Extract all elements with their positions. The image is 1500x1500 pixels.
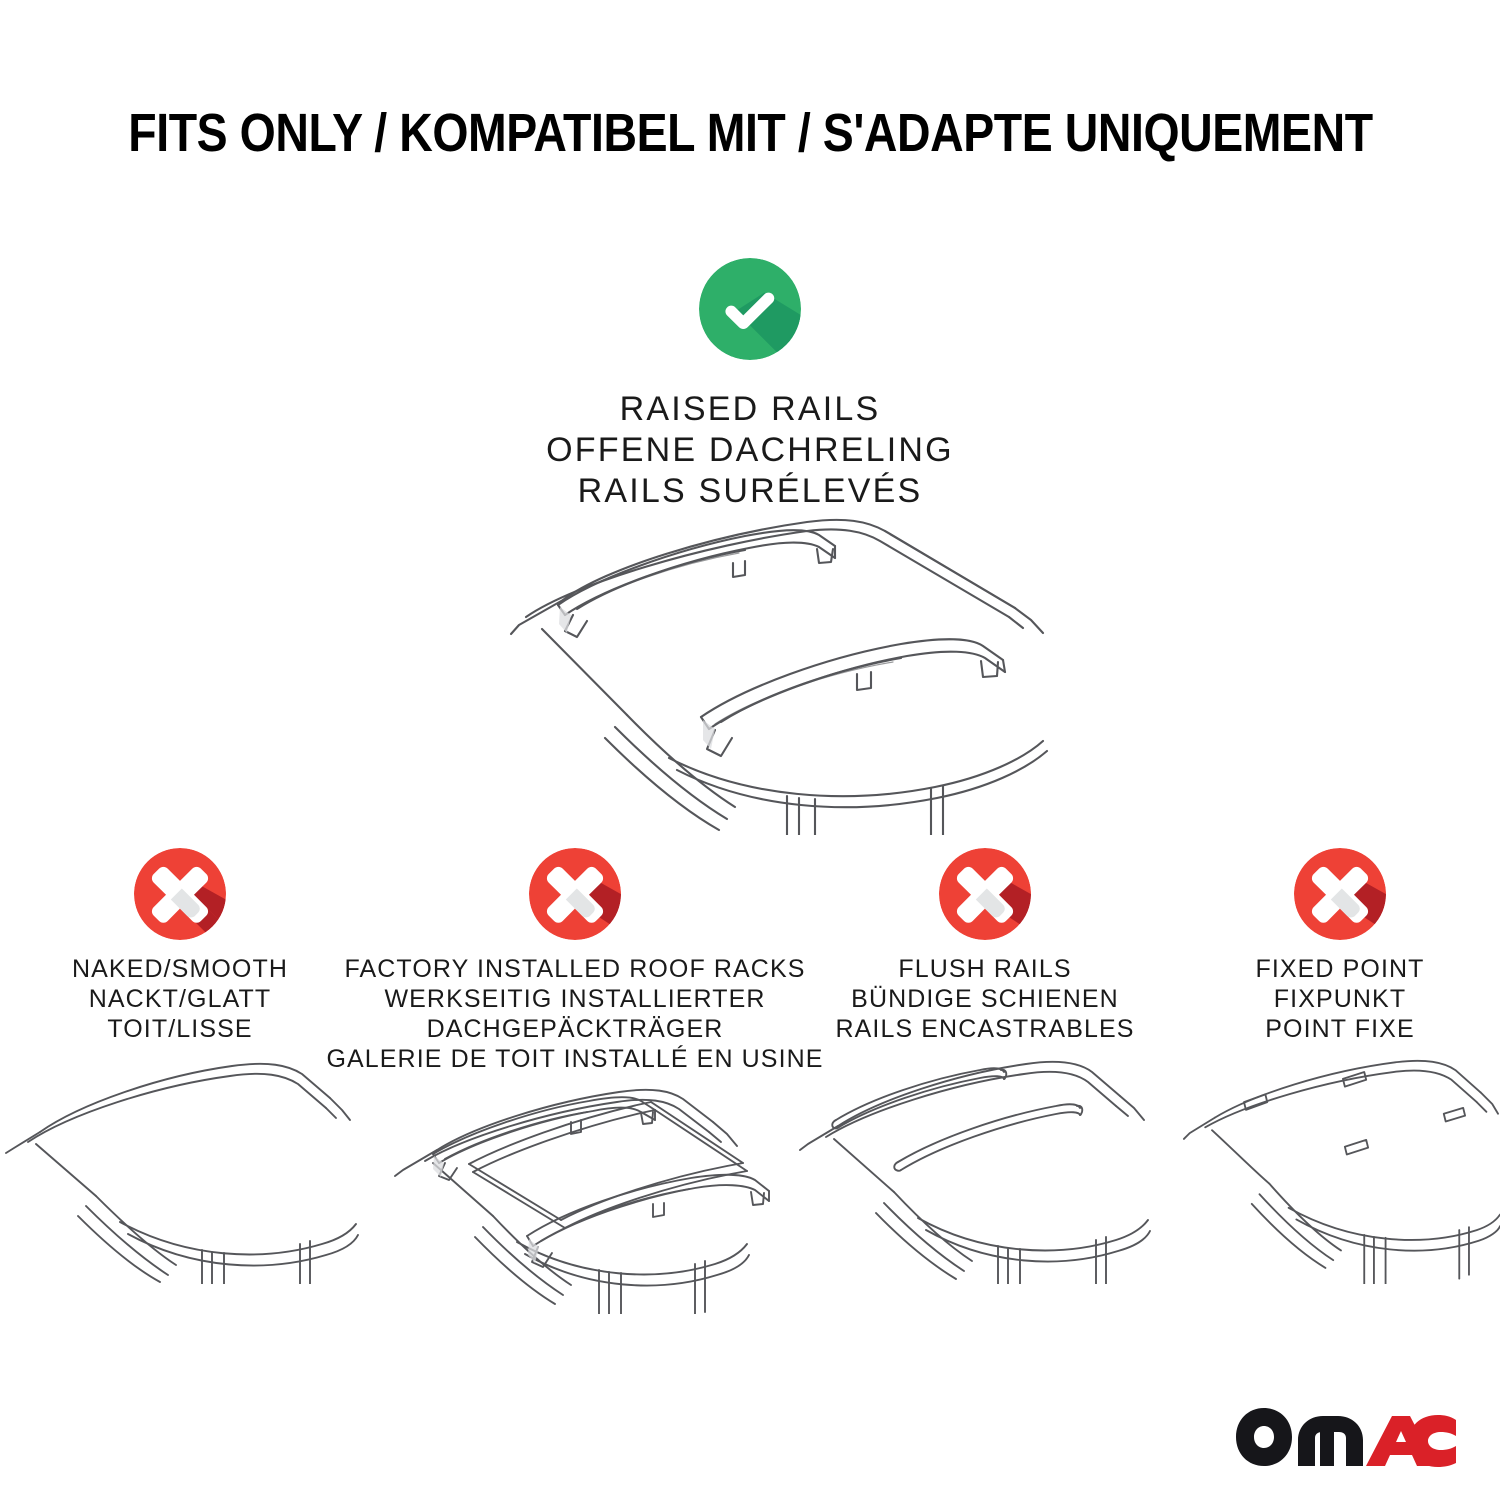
x-circle-icon <box>1294 848 1386 940</box>
label-line: GALERIE DE TOIT INSTALLÉ EN USINE <box>326 1044 823 1074</box>
x-circle-glyph <box>529 848 621 940</box>
incompatible-item-naked: NAKED/SMOOTH NACKT/GLATT TOIT/LISSE <box>0 848 360 1284</box>
label-line: DACHGEPÄCKTRÄGER <box>326 1014 823 1044</box>
label-line: FLUSH RAILS <box>835 954 1134 984</box>
label-line: FIXPUNKT <box>1255 984 1424 1014</box>
page-header: FITS ONLY / KOMPATIBEL MIT / S'ADAPTE UN… <box>0 104 1500 162</box>
label-line: NACKT/GLATT <box>72 984 288 1014</box>
compatible-label: RAISED RAILS OFFENE DACHRELING RAILS SUR… <box>0 389 1500 512</box>
compatible-section: RAISED RAILS OFFENE DACHRELING RAILS SUR… <box>0 258 1500 512</box>
label-line: RAILS ENCASTRABLES <box>835 1014 1134 1044</box>
car-roof-factory-racks-illustration <box>360 1084 790 1314</box>
car-roof-fixed-point-illustration <box>1180 1054 1500 1284</box>
x-circle-glyph <box>1294 848 1386 940</box>
omac-logo <box>1234 1406 1458 1468</box>
car-roof-naked-illustration <box>0 1054 360 1284</box>
incompatible-label-naked: NAKED/SMOOTH NACKT/GLATT TOIT/LISSE <box>72 954 288 1044</box>
x-circle-icon <box>134 848 226 940</box>
label-line: BÜNDIGE SCHIENEN <box>835 984 1134 1014</box>
logo-ac-red <box>1366 1415 1456 1467</box>
label-line: WERKSEITIG INSTALLIERTER <box>326 984 823 1014</box>
car-roof-flush-rails-illustration <box>790 1054 1180 1284</box>
compatible-label-line-1: RAISED RAILS <box>0 389 1500 430</box>
x-circle-glyph <box>134 848 226 940</box>
logo-om-dark <box>1236 1408 1363 1466</box>
x-circle-icon <box>529 848 621 940</box>
incompatible-label-factory-racks: FACTORY INSTALLED ROOF RACKS WERKSEITIG … <box>326 954 823 1074</box>
page-title: FITS ONLY / KOMPATIBEL MIT / S'ADAPTE UN… <box>128 104 1372 162</box>
incompatible-item-fixed-point: FIXED POINT FIXPUNKT POINT FIXE <box>1180 848 1500 1284</box>
label-line: POINT FIXE <box>1255 1014 1424 1044</box>
incompatible-label-fixed-point: FIXED POINT FIXPUNKT POINT FIXE <box>1255 954 1424 1044</box>
x-circle-icon <box>939 848 1031 940</box>
label-line: FIXED POINT <box>1255 954 1424 984</box>
incompatible-item-flush-rails: FLUSH RAILS BÜNDIGE SCHIENEN RAILS ENCAS… <box>790 848 1180 1284</box>
incompatible-item-factory-racks: FACTORY INSTALLED ROOF RACKS WERKSEITIG … <box>360 848 790 1314</box>
incompatible-label-flush-rails: FLUSH RAILS BÜNDIGE SCHIENEN RAILS ENCAS… <box>835 954 1134 1044</box>
x-circle-glyph <box>939 848 1031 940</box>
label-line: FACTORY INSTALLED ROOF RACKS <box>326 954 823 984</box>
label-line: TOIT/LISSE <box>72 1014 288 1044</box>
car-roof-raised-rails-illustration <box>415 505 1085 835</box>
check-circle-glyph <box>699 258 801 360</box>
incompatible-section: NAKED/SMOOTH NACKT/GLATT TOIT/LISSE <box>0 848 1500 1314</box>
check-circle-icon <box>699 258 801 360</box>
label-line: NAKED/SMOOTH <box>72 954 288 984</box>
compatible-label-line-2: OFFENE DACHRELING <box>0 430 1500 471</box>
